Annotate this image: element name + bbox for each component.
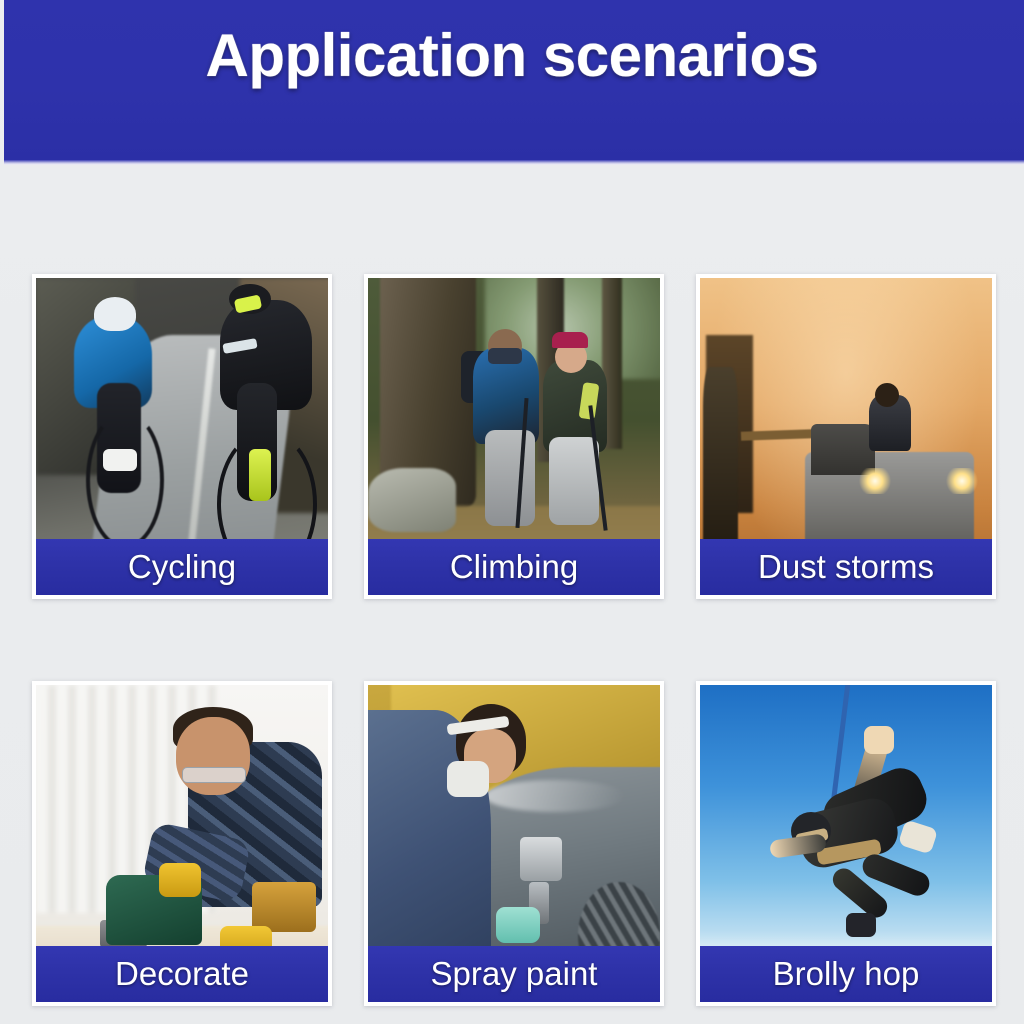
scenario-caption-cycling: Cycling — [36, 539, 328, 595]
scenario-card-cycling[interactable]: Cycling — [32, 274, 332, 599]
scenario-caption-climbing: Climbing — [368, 539, 660, 595]
scenario-caption-brolly-hop: Brolly hop — [700, 946, 992, 1002]
scenario-card-grid: Cycling — [32, 274, 996, 1006]
header-underline — [4, 160, 1024, 165]
scenario-card-decorate[interactable]: Decorate — [32, 681, 332, 1006]
scenario-card-brolly-hop[interactable]: Brolly hop — [696, 681, 996, 1006]
scenario-card-spray-paint[interactable]: Spray paint — [364, 681, 664, 1006]
scenario-caption-dust-storms: Dust storms — [700, 539, 992, 595]
scenario-caption-decorate: Decorate — [36, 946, 328, 1002]
scenario-card-climbing[interactable]: Climbing — [364, 274, 664, 599]
application-scenarios-page: Application scenarios — [0, 0, 1024, 1024]
scenario-caption-spray-paint: Spray paint — [368, 946, 660, 1002]
scenario-card-dust-storms[interactable]: Dust storms — [696, 274, 996, 599]
page-title: Application scenarios — [0, 16, 1024, 96]
